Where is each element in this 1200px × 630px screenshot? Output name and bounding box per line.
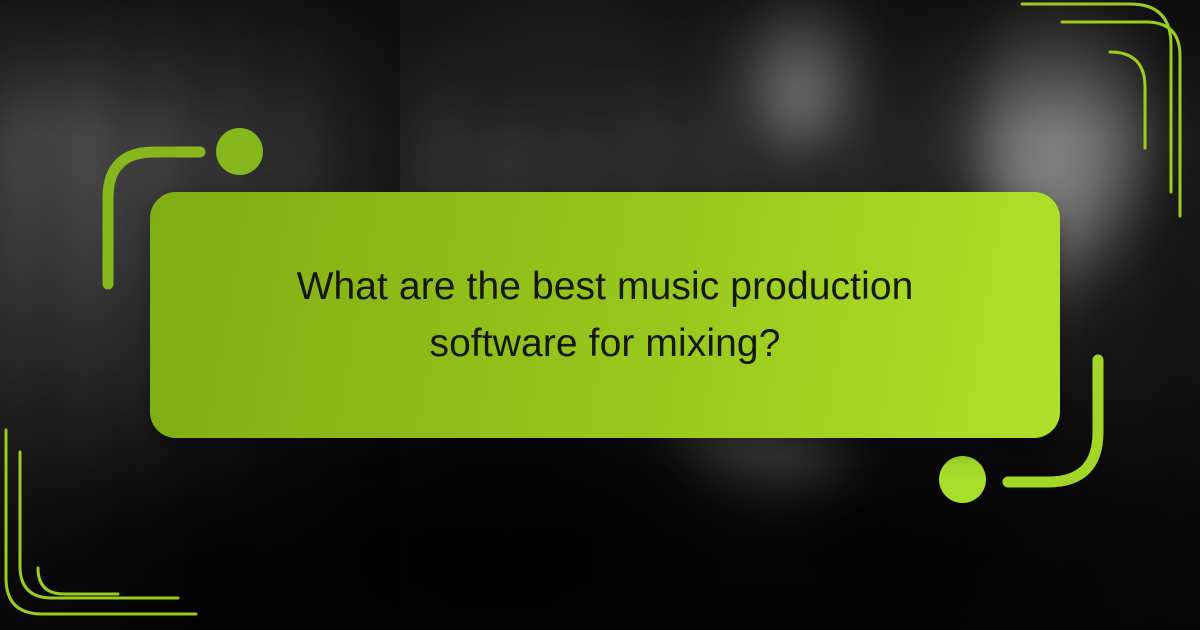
accent-dot-bottom-right: [939, 456, 986, 503]
page-title: What are the best music production softw…: [255, 258, 955, 373]
share-card-canvas: What are the best music production softw…: [0, 0, 1200, 630]
accent-dot-top-left: [216, 128, 263, 175]
question-card: What are the best music production softw…: [150, 192, 1060, 438]
